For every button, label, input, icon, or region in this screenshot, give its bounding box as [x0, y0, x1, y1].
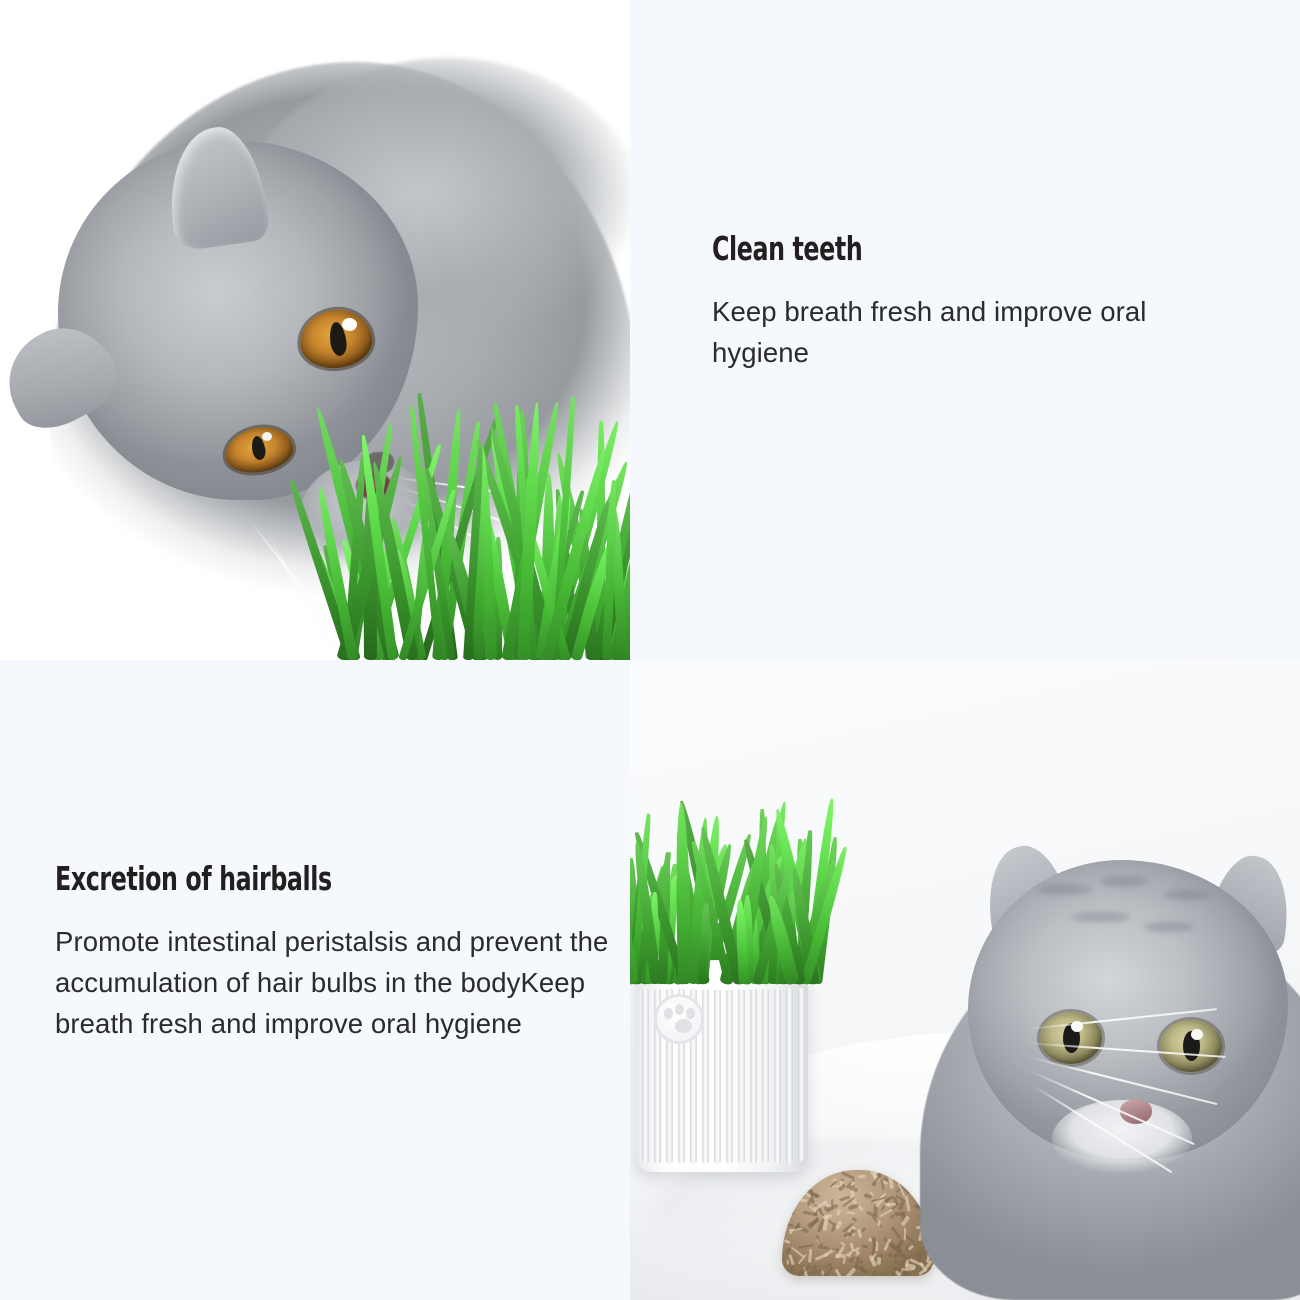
coir-fiber — [784, 1239, 790, 1244]
coir-fiber — [808, 1248, 813, 1262]
coir-fiber — [800, 1199, 807, 1203]
planter-rib — [750, 988, 757, 1164]
coir-fiber — [799, 1244, 814, 1249]
coir-fiber — [808, 1270, 821, 1275]
feature-panel-clean-teeth: Clean teeth Keep breath fresh and improv… — [630, 0, 1300, 660]
coir-fiber — [905, 1195, 911, 1211]
coir-fiber — [836, 1220, 843, 1229]
coir-fiber — [786, 1260, 788, 1265]
product-feature-canvas: Clean teeth Keep breath fresh and improv… — [0, 0, 1300, 1300]
planter-rib — [762, 988, 769, 1164]
coir-fiber — [861, 1227, 866, 1233]
planter-rib — [738, 988, 745, 1164]
clean-teeth-heading: Clean teeth — [712, 232, 1128, 267]
hairballs-body: Promote intestinal peristalsis and preve… — [55, 921, 615, 1044]
coir-fiber — [791, 1247, 804, 1258]
cat-grass-planter — [636, 972, 808, 1172]
kitten-eye-right — [1160, 1020, 1222, 1072]
coir-fiber — [844, 1267, 857, 1276]
coir-fiber — [894, 1259, 898, 1265]
coir-fiber — [815, 1252, 829, 1260]
coir-fiber — [788, 1254, 794, 1265]
coir-fiber — [810, 1184, 815, 1188]
coir-fiber — [872, 1269, 878, 1276]
feature-panel-excretion-of-hairballs: Excretion of hairballs Promote intestina… — [0, 660, 630, 1300]
coir-fiber — [903, 1227, 906, 1241]
planter-rib — [774, 988, 781, 1164]
coir-fiber — [836, 1209, 841, 1217]
coir-fiber — [894, 1253, 898, 1258]
cat-eye-glint-lower — [262, 432, 272, 441]
planter-rib — [642, 988, 649, 1164]
coir-fiber — [890, 1226, 900, 1239]
kitten-eye-left — [1040, 1012, 1102, 1064]
coir-fiber — [847, 1212, 855, 1215]
coir-fiber — [834, 1269, 842, 1276]
coir-fiber — [789, 1229, 794, 1234]
cat-grass-cluster — [330, 360, 630, 660]
potted-cat-grass — [630, 784, 828, 984]
hairballs-heading: Excretion of hairballs — [55, 862, 503, 897]
coir-fiber — [858, 1260, 863, 1264]
coir-fiber — [852, 1217, 857, 1222]
coir-fiber — [861, 1244, 868, 1249]
clean-teeth-body: Keep breath fresh and improve oral hygie… — [712, 291, 1232, 373]
coir-fiber — [857, 1174, 865, 1178]
coir-fiber — [887, 1252, 893, 1258]
coir-fiber — [848, 1203, 860, 1210]
photo-cat-eating-grass — [0, 0, 630, 660]
coir-fiber — [877, 1257, 881, 1265]
cat-eye-glint-upper — [342, 318, 357, 331]
paw-print-emblem-icon — [654, 994, 704, 1044]
photo-kitten-with-planter — [630, 660, 1300, 1300]
planter-rib — [786, 988, 793, 1164]
planter-rib — [798, 988, 805, 1164]
coir-fiber — [790, 1265, 794, 1271]
clean-teeth-text-block: Clean teeth Keep breath fresh and improv… — [712, 232, 1232, 373]
planter-rib — [726, 988, 733, 1164]
coir-fiber — [884, 1203, 896, 1206]
coir-fiber — [842, 1256, 846, 1264]
planter-rib — [714, 988, 721, 1164]
coir-fiber — [818, 1245, 830, 1250]
coir-fiber — [816, 1235, 824, 1246]
hairballs-text-block: Excretion of hairballs Promote intestina… — [55, 862, 615, 1044]
